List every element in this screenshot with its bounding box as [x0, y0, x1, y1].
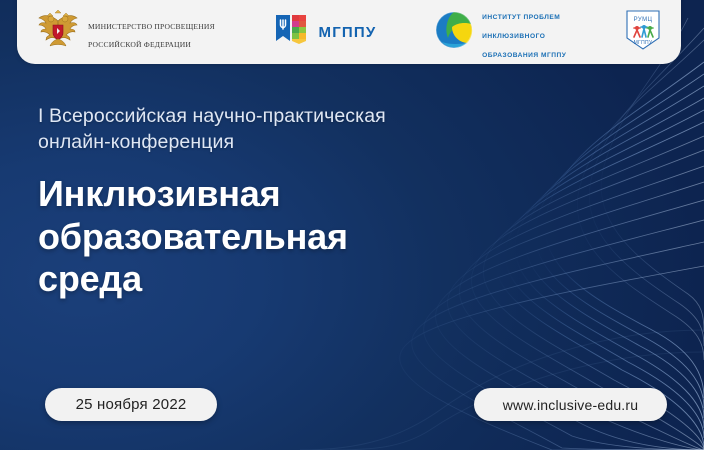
logo-institute: ИНСТИТУТ ПРОБЛЕМ ИНКЛЮЗИВНОГО ОБРАЗОВАНИ…: [433, 3, 566, 60]
rumc-shield-icon: РУМЦ МГППУ: [623, 8, 663, 57]
event-date-badge: 25 ноября 2022: [45, 388, 217, 421]
page-title-line-2: образовательная: [38, 216, 348, 257]
page-title: Инклюзивная образовательная среда: [38, 173, 558, 299]
svg-text:МГППУ: МГППУ: [634, 40, 653, 46]
logo-ministry: МИНИСТЕРСТВО ПРОСВЕЩЕНИЯ РОССИЙСКОЙ ФЕДЕ…: [35, 9, 215, 56]
conference-subtitle-line-2: онлайн-конференция: [38, 131, 234, 153]
institute-circle-icon: [433, 9, 475, 56]
logo-mgppu: МГППУ: [272, 10, 377, 55]
conference-subtitle-line-1: I Всероссийская научно-практическая: [38, 105, 386, 127]
logo-ministry-label: МИНИСТЕРСТВО ПРОСВЕЩЕНИЯ РОССИЙСКОЙ ФЕДЕ…: [88, 14, 215, 50]
sponsor-logo-bar: МИНИСТЕРСТВО ПРОСВЕЩЕНИЯ РОССИЙСКОЙ ФЕДЕ…: [17, 0, 681, 64]
page-title-line-1: Инклюзивная: [38, 173, 280, 214]
russian-coat-of-arms-icon: [35, 9, 81, 56]
conference-subtitle: I Всероссийская научно-практическая онла…: [38, 104, 558, 155]
logo-institute-label: ИНСТИТУТ ПРОБЛЕМ ИНКЛЮЗИВНОГО ОБРАЗОВАНИ…: [482, 3, 566, 60]
logo-rumc: РУМЦ МГППУ: [623, 8, 663, 57]
conference-poster: МИНИСТЕРСТВО ПРОСВЕЩЕНИЯ РОССИЙСКОЙ ФЕДЕ…: [0, 0, 704, 450]
website-link-badge[interactable]: www.inclusive-edu.ru: [474, 388, 667, 421]
logo-mgppu-label: МГППУ: [319, 24, 377, 41]
page-title-line-3: среда: [38, 258, 142, 299]
mgppu-book-icon: [272, 10, 312, 55]
svg-text:РУМЦ: РУМЦ: [634, 17, 653, 23]
poster-content: I Всероссийская научно-практическая онла…: [38, 104, 558, 300]
